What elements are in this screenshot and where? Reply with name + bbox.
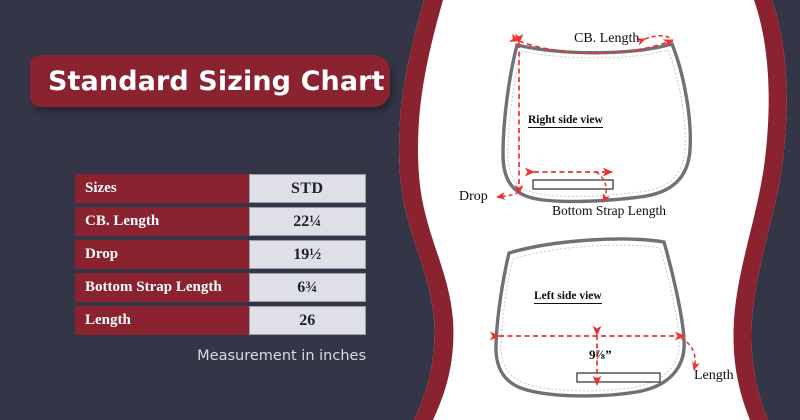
label-bottom-strap-length: Bottom Strap Length	[552, 203, 666, 219]
bottom-strap-bar-bottom	[577, 373, 660, 382]
label-left-side-view: Left side view	[534, 290, 602, 304]
label-height-measure: 9⅞”	[589, 347, 612, 363]
label-right-side-view: Right side view	[528, 114, 603, 128]
label-cb-length: CB. Length	[574, 31, 639, 47]
diagram-layer	[0, 0, 800, 420]
label-drop: Drop	[459, 189, 488, 205]
cb-length-leader	[645, 36, 672, 42]
sizing-chart-canvas: Standard Sizing Chart Sizes STD CB. Leng…	[0, 0, 800, 420]
label-length: Length	[694, 368, 734, 384]
diagram-left-side-view	[496, 239, 695, 396]
bottom-strap-bar-top	[533, 180, 613, 189]
drop-leader	[497, 192, 519, 197]
